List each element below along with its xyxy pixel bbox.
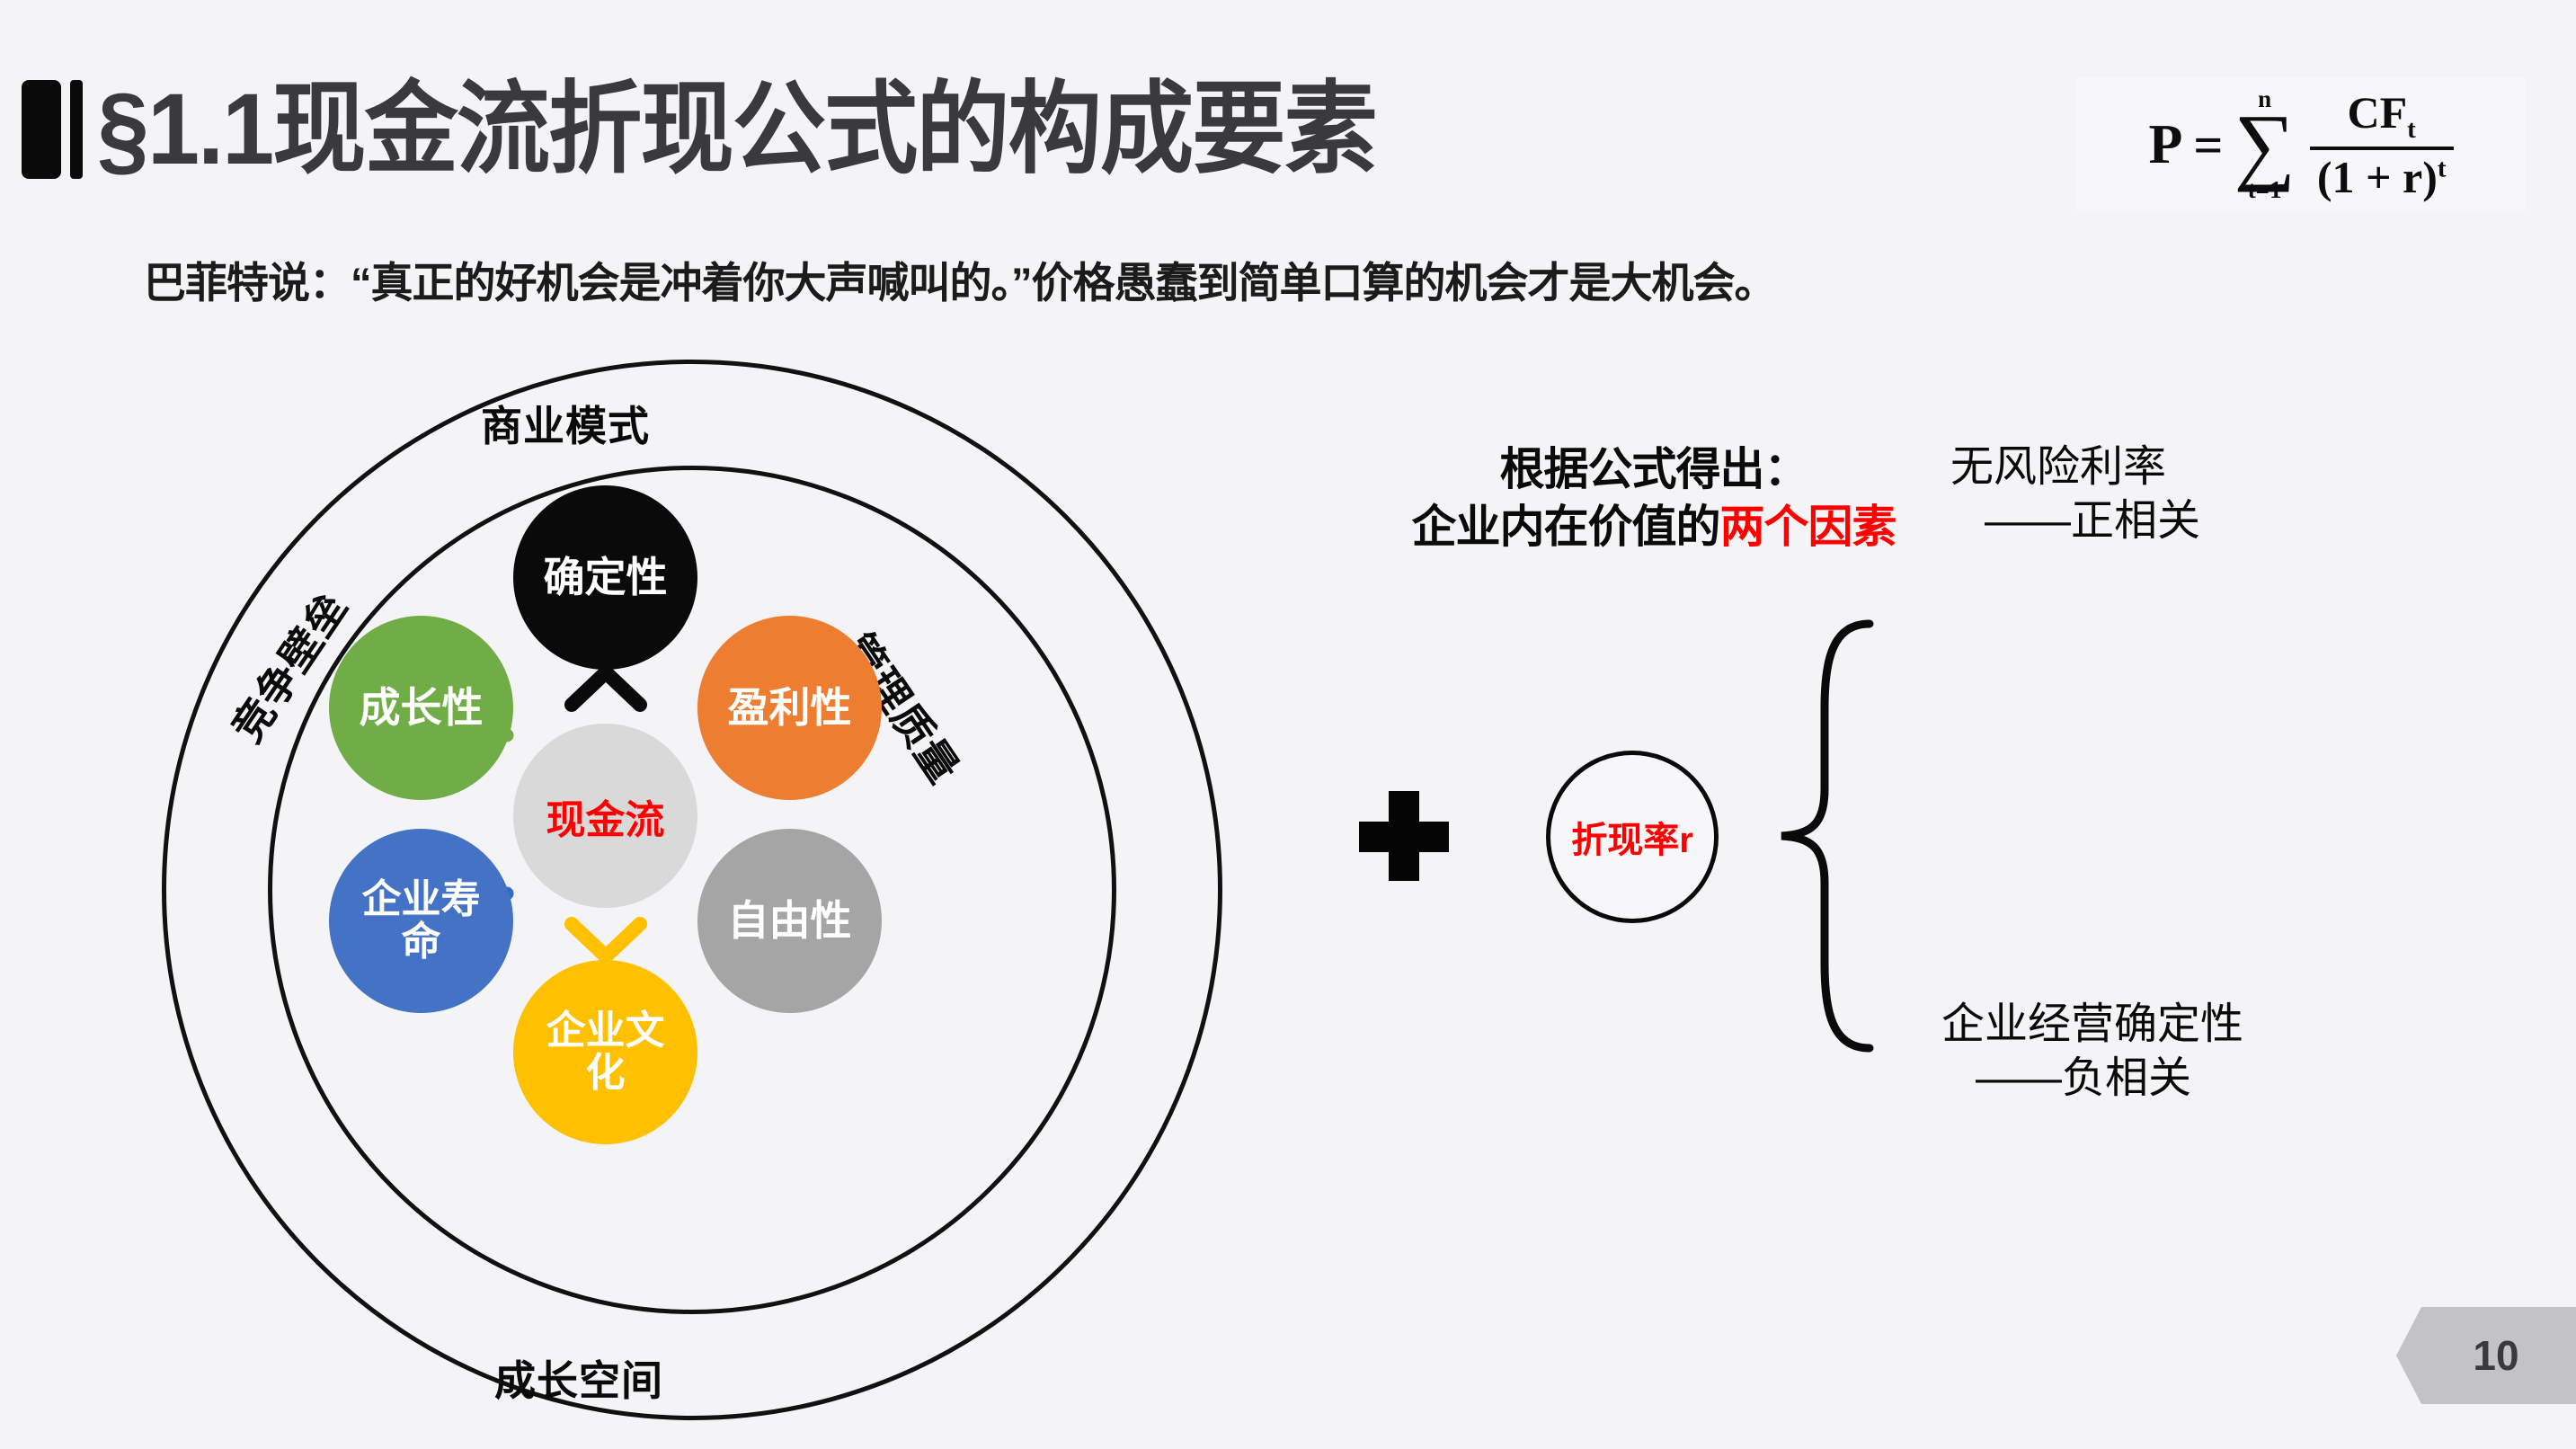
formula-numerator-base: CF — [2348, 87, 2408, 138]
chevron-top-icon — [564, 663, 647, 712]
formula-summation: n ∑ t=1 — [2234, 87, 2295, 203]
value-factors-diagram: 商业模式 成长空间 竞争壁垒 管理质量 确定性 成长性 盈利性 企业寿命 自由性… — [162, 360, 1222, 1438]
page-number: 10 — [2473, 1331, 2518, 1380]
sigma-icon: ∑ — [2234, 111, 2295, 179]
ring-label-bottom: 成长空间 — [494, 1348, 663, 1408]
conclusion-highlight: 两个因素 — [1720, 502, 1896, 552]
node-cash-flow[interactable]: 现金流 — [513, 724, 697, 908]
plus-icon-vertical — [1389, 791, 1419, 881]
subtitle-quote: 巴菲特说：“真正的好机会是冲着你大声喊叫的。”价格愚蠢到简单口算的机会才是大机会… — [144, 248, 1776, 310]
conclusion-heading: 根据公式得出： 企业内在价值的两个因素 — [1312, 440, 1995, 556]
branch-risk-free-rate: 无风险利率 ——正相关 — [1950, 440, 2200, 547]
formula-fraction: CFt (1 + r)t — [2310, 89, 2454, 200]
node-discount-rate[interactable]: 折现率r — [1546, 751, 1719, 923]
conclusion-line-2: 企业内在价值的两个因素 — [1312, 498, 1995, 556]
formula-lower-limit: t=1 — [2248, 178, 2282, 202]
chevron-bottom-icon — [564, 917, 647, 965]
node-profitability[interactable]: 盈利性 — [697, 616, 882, 800]
node-certainty[interactable]: 确定性 — [513, 485, 697, 670]
branch-business-certainty: 企业经营确定性 ——负相关 — [1941, 998, 2243, 1105]
branch-risk-free-rate-title: 无风险利率 — [1950, 440, 2200, 494]
formula-lhs: P — [2148, 113, 2182, 177]
node-company-lifespan[interactable]: 企业寿命 — [329, 829, 513, 1013]
formula-equals: = — [2193, 115, 2223, 175]
title-mark-thick — [22, 80, 61, 179]
ring-label-top: 商业模式 — [481, 394, 650, 453]
branch-business-certainty-title: 企业经营确定性 — [1941, 998, 2243, 1052]
formula-denominator: (1 + r)t — [2310, 150, 2454, 200]
curly-brace-icon — [1717, 611, 1879, 1061]
page-title-bar: §1.1现金流折现公式的构成要素 — [22, 79, 1472, 180]
slide-canvas: §1.1现金流折现公式的构成要素 巴菲特说：“真正的好机会是冲着你大声喊叫的。”… — [0, 0, 2576, 1449]
conclusion-panel: 根据公式得出： 企业内在价值的两个因素 折现率r 无风险利率 ——正相关 企业经… — [1258, 440, 2517, 1249]
conclusion-line-2-prefix: 企业内在价值的 — [1412, 502, 1720, 552]
node-freedom[interactable]: 自由性 — [697, 829, 882, 1013]
node-company-culture[interactable]: 企业文化 — [513, 960, 697, 1144]
formula-numerator: CFt — [2341, 89, 2423, 147]
conclusion-line-1: 根据公式得出： — [1312, 440, 1995, 498]
title-mark-thin — [70, 80, 83, 179]
page-title: §1.1现金流折现公式的构成要素 — [97, 79, 1376, 180]
plus-icon — [1359, 791, 1449, 881]
formula-denominator-base: (1 + r) — [2317, 152, 2438, 202]
formula-denominator-sup: t — [2438, 154, 2447, 182]
formula-numerator-sub: t — [2407, 115, 2416, 144]
branch-business-certainty-relation: ——负相关 — [1941, 1052, 2243, 1106]
node-growth[interactable]: 成长性 — [329, 616, 513, 800]
title-bar-mark-icon — [22, 80, 83, 179]
branch-risk-free-rate-relation: ——正相关 — [1950, 494, 2200, 548]
dcf-formula: P = n ∑ t=1 CFt (1 + r)t — [2076, 77, 2526, 212]
page-number-badge: 10 — [2396, 1307, 2576, 1404]
